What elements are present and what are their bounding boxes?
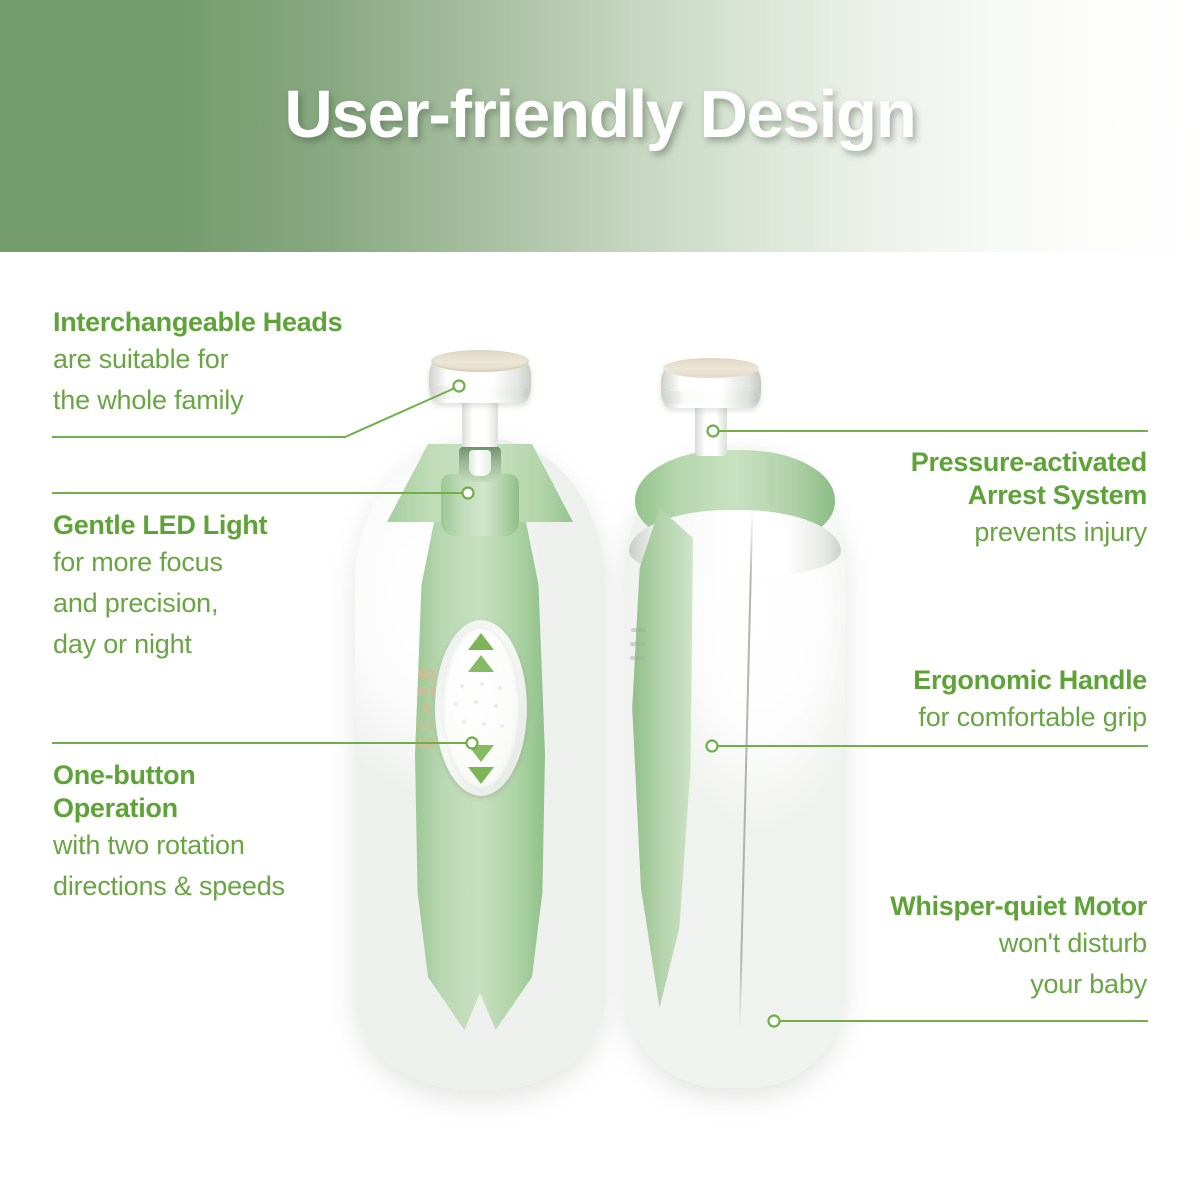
page-title: User-friendly Design (0, 76, 1200, 153)
callout-one-button-operation: One-button Operation with two rotation d… (53, 759, 285, 907)
infographic-page: User-friendly Design R2 R1 0 L1 L2 (0, 0, 1200, 1200)
chevron-down-icon (468, 767, 494, 784)
callout-title: One-button (53, 759, 285, 792)
callout-body-line: are suitable for (53, 339, 342, 380)
chevron-down-icon (468, 745, 494, 762)
callout-body-line: directions & speeds (53, 866, 285, 907)
callout-body-line: prevents injury (911, 512, 1147, 553)
callout-body-line: with two rotation (53, 825, 285, 866)
button-texture-dots-icon (450, 680, 512, 744)
device-head-collar-ridge-side (664, 391, 758, 404)
callout-body-line: the whole family (53, 380, 342, 421)
callout-title: Operation (53, 792, 285, 825)
callout-body-line: your baby (890, 964, 1147, 1005)
chevron-up-icon (468, 655, 494, 672)
callout-interchangeable-heads: Interchangeable Heads are suitable for t… (53, 306, 342, 421)
speed-mark: 0 (416, 700, 438, 717)
product-front-view: R2 R1 0 L1 L2 (355, 350, 605, 1090)
device-head-nub-front (469, 450, 491, 476)
callout-title: Arrest System (911, 479, 1147, 512)
callout-title: Pressure-activated (911, 446, 1147, 479)
callout-body-line: day or night (53, 624, 267, 665)
callout-gentle-led-light: Gentle LED Light for more focus and prec… (53, 509, 267, 665)
sanding-disc-front (431, 350, 529, 372)
callout-body-line: for comfortable grip (913, 697, 1147, 738)
chevron-up-icon (468, 633, 494, 650)
speed-markings: R2 R1 0 L1 L2 (416, 666, 438, 751)
callout-pressure-activated-arrest-system: Pressure-activated Arrest System prevent… (911, 446, 1147, 553)
sanding-disc-side (663, 358, 759, 378)
device-cap-ridge-front (441, 474, 519, 536)
callout-title: Whisper-quiet Motor (890, 890, 1147, 923)
speed-mark: R2 (416, 666, 438, 683)
device-vent-slot (631, 628, 646, 632)
speed-mark: L1 (416, 717, 438, 734)
speed-mark: R1 (416, 683, 438, 700)
speed-mark: L2 (416, 734, 438, 751)
callout-body-line: for more focus (53, 542, 267, 583)
callout-title: Ergonomic Handle (913, 664, 1147, 697)
device-head-collar-ridge-front (431, 386, 529, 399)
callout-body-line: won't disturb (890, 923, 1147, 964)
callout-ergonomic-handle: Ergonomic Handle for comfortable grip (913, 664, 1147, 738)
device-vent-slot (630, 642, 645, 646)
callout-body-line: and precision, (53, 583, 267, 624)
callout-title: Interchangeable Heads (53, 306, 342, 339)
device-vent-slot (630, 656, 645, 660)
product-side-view (625, 358, 845, 1088)
device-head-stem-side (695, 400, 727, 456)
callout-whisper-quiet-motor: Whisper-quiet Motor won't disturb your b… (890, 890, 1147, 1005)
callout-title: Gentle LED Light (53, 509, 267, 542)
